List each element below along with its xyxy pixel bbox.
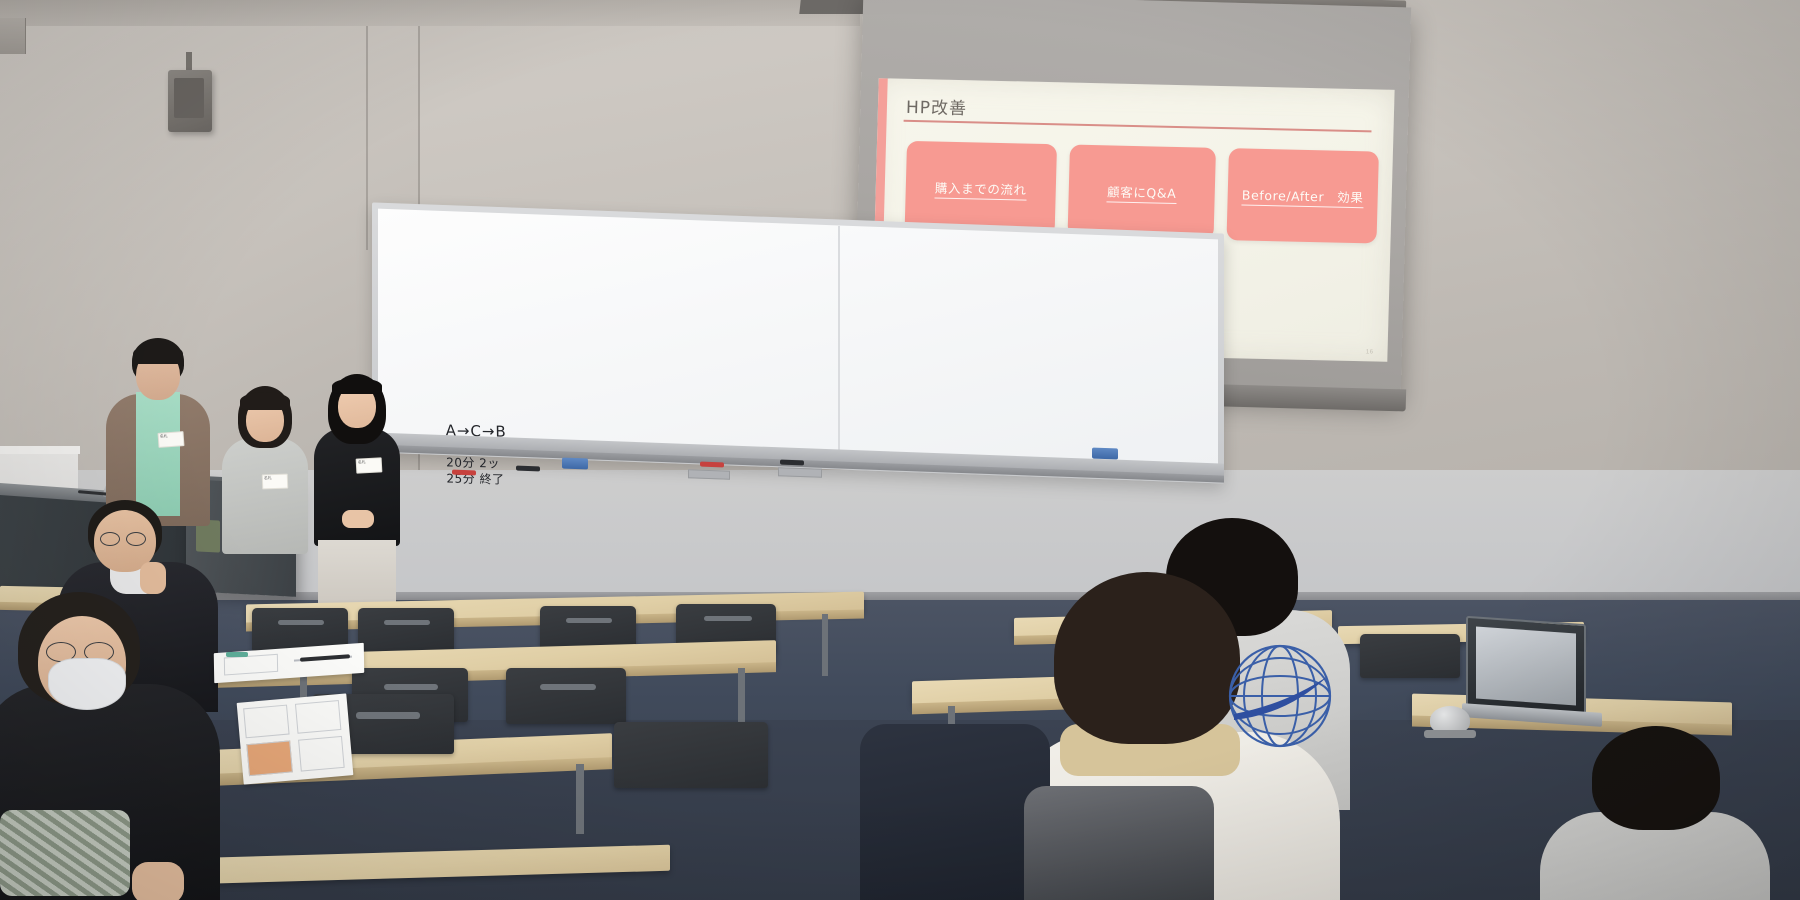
marker-black-2 xyxy=(780,460,804,466)
presenter-2-nametag: 名札 xyxy=(262,474,289,490)
chair-r2-c2-slot xyxy=(540,684,596,690)
globe-logo-icon xyxy=(1224,640,1336,752)
attendee-front-left-hand xyxy=(132,862,184,900)
slide-box-3: Before/After 効果 xyxy=(1226,148,1378,243)
attendee-right-front-hair xyxy=(1054,572,1240,744)
desk-row1-leg-2 xyxy=(822,614,828,676)
chair-r1-c1-slot xyxy=(278,620,324,625)
tray-box-1 xyxy=(688,469,730,480)
call-bell-base xyxy=(1424,730,1476,738)
audience-laptop-display xyxy=(1476,627,1576,706)
wall-seam-left xyxy=(366,0,368,250)
handout-held-block-1 xyxy=(243,705,289,739)
handout-held xyxy=(237,693,354,784)
foreground-jacket xyxy=(1024,786,1214,900)
tray-box-2 xyxy=(778,467,822,478)
whiteboard-eraser-2 xyxy=(1092,448,1118,460)
foreground-bag xyxy=(860,724,1050,900)
presenter-2-bangs xyxy=(240,392,290,410)
presenter-1-hair-front xyxy=(133,344,183,364)
chair-r1-c2 xyxy=(358,608,454,652)
slide-box-3-label: Before/After 効果 xyxy=(1242,184,1364,208)
handout-held-block-4 xyxy=(298,736,345,772)
chair-r1-c4-slot xyxy=(704,616,752,621)
marker-red-2 xyxy=(700,462,724,468)
handout-on-desk-block xyxy=(224,654,278,676)
slide-box-1-label: 購入までの流れ xyxy=(935,177,1027,200)
slide-box-2-label: 顧客にQ&A xyxy=(1107,181,1177,204)
chair-r3-c2 xyxy=(614,722,768,788)
slide-box-2: 顧客にQ&A xyxy=(1068,145,1216,240)
ceiling-vent xyxy=(0,18,26,54)
left-window-sill xyxy=(0,446,80,454)
chair-r1-c2-slot xyxy=(384,620,430,625)
chair-r2-c2 xyxy=(506,668,626,724)
slide-page-number: 16 xyxy=(1366,349,1374,355)
attendee-far-right-hair xyxy=(1592,726,1720,830)
classroom-presentation-photo: HP改善 購入までの流れ 顧客にQ&A Before/After 効果 透明化 … xyxy=(0,0,1800,900)
presenter-2-sweater xyxy=(222,438,308,554)
marker-red-1 xyxy=(452,470,476,476)
whiteboard-panel-divider xyxy=(838,226,840,454)
slide-title: HP改善 xyxy=(906,93,968,119)
handout-held-block-2 xyxy=(295,700,341,734)
green-marker-on-desk xyxy=(226,652,248,657)
marker-black-1 xyxy=(516,466,540,472)
desk-row3-near-leg xyxy=(576,764,584,834)
attendee-mid-left-glasses xyxy=(100,532,120,546)
slide-title-rule xyxy=(904,120,1372,132)
ceiling-speaker xyxy=(168,70,212,132)
ceiling-strip xyxy=(0,0,860,26)
attendee-front-left-scarf xyxy=(0,810,130,896)
chair-far-right xyxy=(1360,634,1460,678)
attendee-mid-left-hand xyxy=(140,562,166,594)
presenter-3-bangs xyxy=(332,378,382,394)
presenter-3-nametag: 名札 xyxy=(356,457,383,473)
handout-held-block-3 xyxy=(246,740,293,776)
presenter-1-nametag: 名札 xyxy=(158,431,185,448)
chair-r1-c3-slot xyxy=(566,618,612,623)
presenter-1-shirt xyxy=(136,392,180,516)
attendee-mid-left-glasses-right xyxy=(126,532,146,546)
whiteboard-eraser-1 xyxy=(562,458,588,470)
chair-r2-c1-slot xyxy=(384,684,438,690)
presenter-3-hands xyxy=(342,510,374,528)
presenter-3-top xyxy=(314,428,400,546)
attendee-front-left-face-mask xyxy=(48,658,126,710)
chair-r3-c1-slot xyxy=(356,712,420,719)
